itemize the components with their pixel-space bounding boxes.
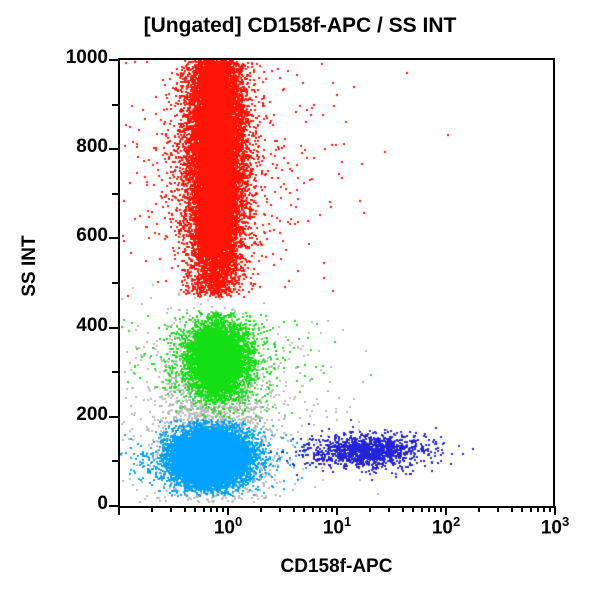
x-tick-minor	[511, 506, 513, 512]
x-tick-minor	[303, 506, 305, 512]
x-tick-label-exponent: 2	[453, 514, 460, 529]
x-tick-label-base: 10	[432, 517, 453, 538]
x-tick-minor	[184, 506, 186, 512]
x-tick-minor	[331, 506, 333, 512]
x-tick-minor	[521, 506, 523, 512]
y-tick-major	[109, 59, 118, 61]
y-tick-major	[109, 416, 118, 418]
x-tick-minor	[369, 506, 371, 512]
x-tick-label-base: 10	[214, 517, 235, 538]
x-tick-minor	[497, 506, 499, 512]
y-tick-major	[109, 327, 118, 329]
x-tick-minor	[537, 506, 539, 512]
x-tick-minor	[549, 506, 551, 512]
y-tick-minor	[112, 282, 118, 284]
x-tick-minor	[194, 506, 196, 512]
x-tick-label: 102	[401, 514, 491, 539]
y-tick-label: 1000	[36, 47, 108, 69]
x-tick-minor	[412, 506, 414, 512]
x-tick-minor	[279, 506, 281, 512]
x-tick-label: 103	[510, 514, 600, 539]
x-tick-label-base: 10	[323, 517, 344, 538]
y-tick-label: 0	[36, 493, 108, 515]
x-axis-label: CD158f-APC	[118, 556, 555, 578]
y-tick-major	[109, 148, 118, 150]
x-tick-label-exponent: 0	[235, 514, 242, 529]
axis-tick-layer: 02004006008001000100101102103	[0, 0, 600, 600]
x-tick-minor	[260, 506, 262, 512]
y-tick-minor	[112, 371, 118, 373]
x-tick-minor	[210, 506, 212, 512]
x-tick-minor	[203, 506, 205, 512]
x-tick-minor	[530, 506, 532, 512]
x-tick-minor	[216, 506, 218, 512]
y-tick-label: 200	[36, 404, 108, 426]
x-tick-label-exponent: 1	[344, 514, 351, 529]
x-tick-label-exponent: 3	[562, 514, 569, 529]
x-tick-minor	[428, 506, 430, 512]
y-tick-major	[109, 505, 118, 507]
x-tick-minor	[170, 506, 172, 512]
y-tick-minor	[112, 104, 118, 106]
x-tick-label: 101	[292, 514, 382, 539]
y-tick-label: 800	[36, 136, 108, 158]
x-tick-minor	[440, 506, 442, 512]
x-tick-minor	[293, 506, 295, 512]
flow-cytometry-plot: [Ungated] CD158f-APC / SS INT SS INT 020…	[0, 0, 600, 600]
x-tick-minor	[312, 506, 314, 512]
x-tick-minor	[478, 506, 480, 512]
x-tick-minor	[388, 506, 390, 512]
x-tick-minor	[319, 506, 321, 512]
x-tick-minor	[325, 506, 327, 512]
x-tick-minor	[543, 506, 545, 512]
y-tick-label: 400	[36, 315, 108, 337]
x-tick-minor	[222, 506, 224, 512]
x-tick-minor	[402, 506, 404, 512]
y-tick-minor	[112, 460, 118, 462]
x-tick-label-base: 10	[541, 517, 562, 538]
y-tick-minor	[112, 193, 118, 195]
y-tick-label: 600	[36, 225, 108, 247]
x-tick-minor	[421, 506, 423, 512]
x-tick-label: 100	[183, 514, 273, 539]
x-tick-major	[118, 506, 120, 515]
x-tick-minor	[434, 506, 436, 512]
y-tick-major	[109, 237, 118, 239]
x-tick-minor	[151, 506, 153, 512]
